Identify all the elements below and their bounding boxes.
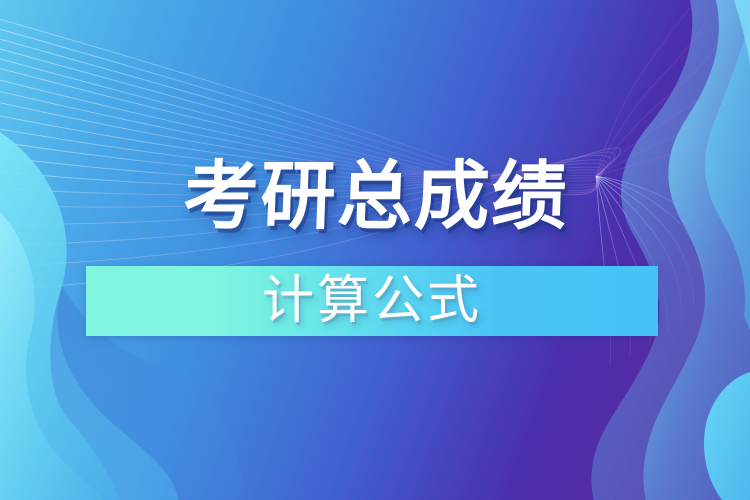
page-title: 考研总成绩 [174,148,577,244]
promo-banner: 考研总成绩 计算公式 [0,0,750,500]
page-subtitle: 计算公式 [86,266,658,336]
banner-text-block: 考研总成绩 计算公式 [0,0,750,500]
